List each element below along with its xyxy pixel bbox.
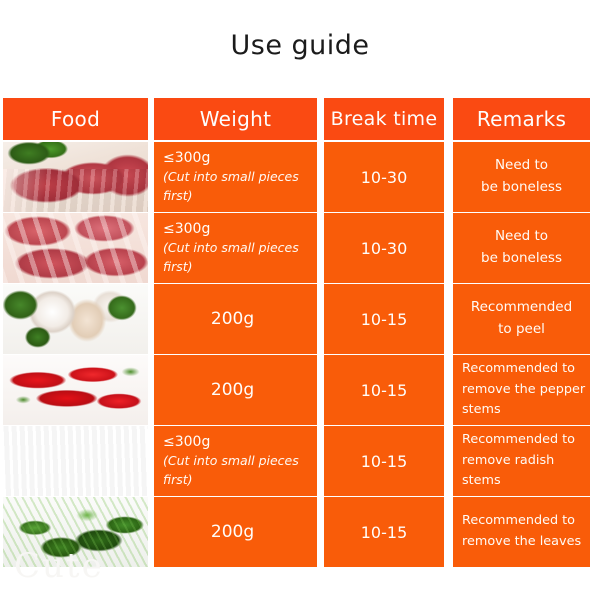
remarks-line: Recommended to — [462, 511, 575, 532]
remarks-cell: Recommended to peel — [453, 284, 590, 354]
weight-cell: ≤300g (Cut into small pieces first) — [154, 426, 317, 496]
food-cell — [3, 355, 148, 425]
pork-slices-photo — [3, 213, 148, 283]
break-time-cell: 10-15 — [324, 497, 444, 567]
weight-note: (Cut into small pieces first) — [163, 239, 311, 277]
remarks-line: Need to — [495, 155, 548, 177]
column-header-remarks: Remarks — [453, 98, 590, 140]
weight-cell: 200g — [154, 284, 317, 354]
remarks-line: stems — [462, 400, 501, 421]
table-row: ≤300g (Cut into small pieces first) 10-3… — [3, 142, 593, 212]
remarks-line: remove the leaves — [462, 532, 581, 553]
remarks-line: Recommended — [471, 297, 572, 319]
weight-value: ≤300g — [163, 219, 210, 239]
table-row: 200g 10-15 Recommended to peel — [3, 284, 593, 354]
table-row: ≤300g (Cut into small pieces first) 10-3… — [3, 213, 593, 283]
remarks-line: to peel — [498, 319, 545, 341]
red-chili-peppers-photo — [3, 355, 148, 425]
remarks-line: be boneless — [481, 177, 562, 199]
page-title: Use guide — [0, 30, 600, 61]
break-time-cell: 10-15 — [324, 284, 444, 354]
table-row: 200g 10-15 Recommended to remove the pep… — [3, 355, 593, 425]
weight-value: 200g — [211, 378, 254, 403]
weight-cell: 200g — [154, 355, 317, 425]
weight-value: 200g — [211, 520, 254, 545]
weight-cell: ≤300g (Cut into small pieces first) — [154, 213, 317, 283]
remarks-line: stems — [462, 471, 501, 492]
remarks-line: Recommended to — [462, 359, 575, 380]
column-header-weight: Weight — [154, 98, 317, 140]
break-time-cell: 10-15 — [324, 355, 444, 425]
carrots-photo — [3, 426, 148, 496]
table-header-row: Food Weight Break time Remarks — [3, 98, 593, 140]
weight-note: (Cut into small pieces first) — [163, 168, 311, 206]
remarks-cell: Recommended to remove the pepper stems — [453, 355, 590, 425]
remarks-line: be boneless — [481, 248, 562, 270]
remarks-cell: Need to be boneless — [453, 142, 590, 212]
watermark: Cute — [14, 546, 104, 586]
weight-cell: ≤300g (Cut into small pieces first) — [154, 142, 317, 212]
weight-value: ≤300g — [163, 148, 210, 168]
break-time-cell: 10-15 — [324, 426, 444, 496]
remarks-line: remove radish — [462, 451, 554, 472]
food-cell — [3, 426, 148, 496]
column-header-food: Food — [3, 98, 148, 140]
remarks-cell: Need to be boneless — [453, 213, 590, 283]
beef-slices-photo — [3, 142, 148, 212]
weight-note: (Cut into small pieces first) — [163, 452, 311, 490]
food-cell — [3, 284, 148, 354]
remarks-cell: Recommended to remove radish stems — [453, 426, 590, 496]
break-time-cell: 10-30 — [324, 213, 444, 283]
table-row: ≤300g (Cut into small pieces first) 10-1… — [3, 426, 593, 496]
break-time-cell: 10-30 — [324, 142, 444, 212]
use-guide-page: Use guide Food Weight Break time Remarks… — [0, 0, 600, 600]
food-cell — [3, 213, 148, 283]
weight-value: 200g — [211, 307, 254, 332]
weight-cell: 200g — [154, 497, 317, 567]
weight-value: ≤300g — [163, 432, 210, 452]
remarks-line: remove the pepper — [462, 380, 585, 401]
remarks-line: Need to — [495, 226, 548, 248]
remarks-cell: Recommended to remove the leaves — [453, 497, 590, 567]
food-cell — [3, 142, 148, 212]
remarks-line: Recommended to — [462, 430, 575, 451]
use-guide-table: Food Weight Break time Remarks ≤300g (Cu… — [3, 98, 593, 568]
column-header-break-time: Break time — [324, 98, 444, 140]
garlic-photo — [3, 284, 148, 354]
